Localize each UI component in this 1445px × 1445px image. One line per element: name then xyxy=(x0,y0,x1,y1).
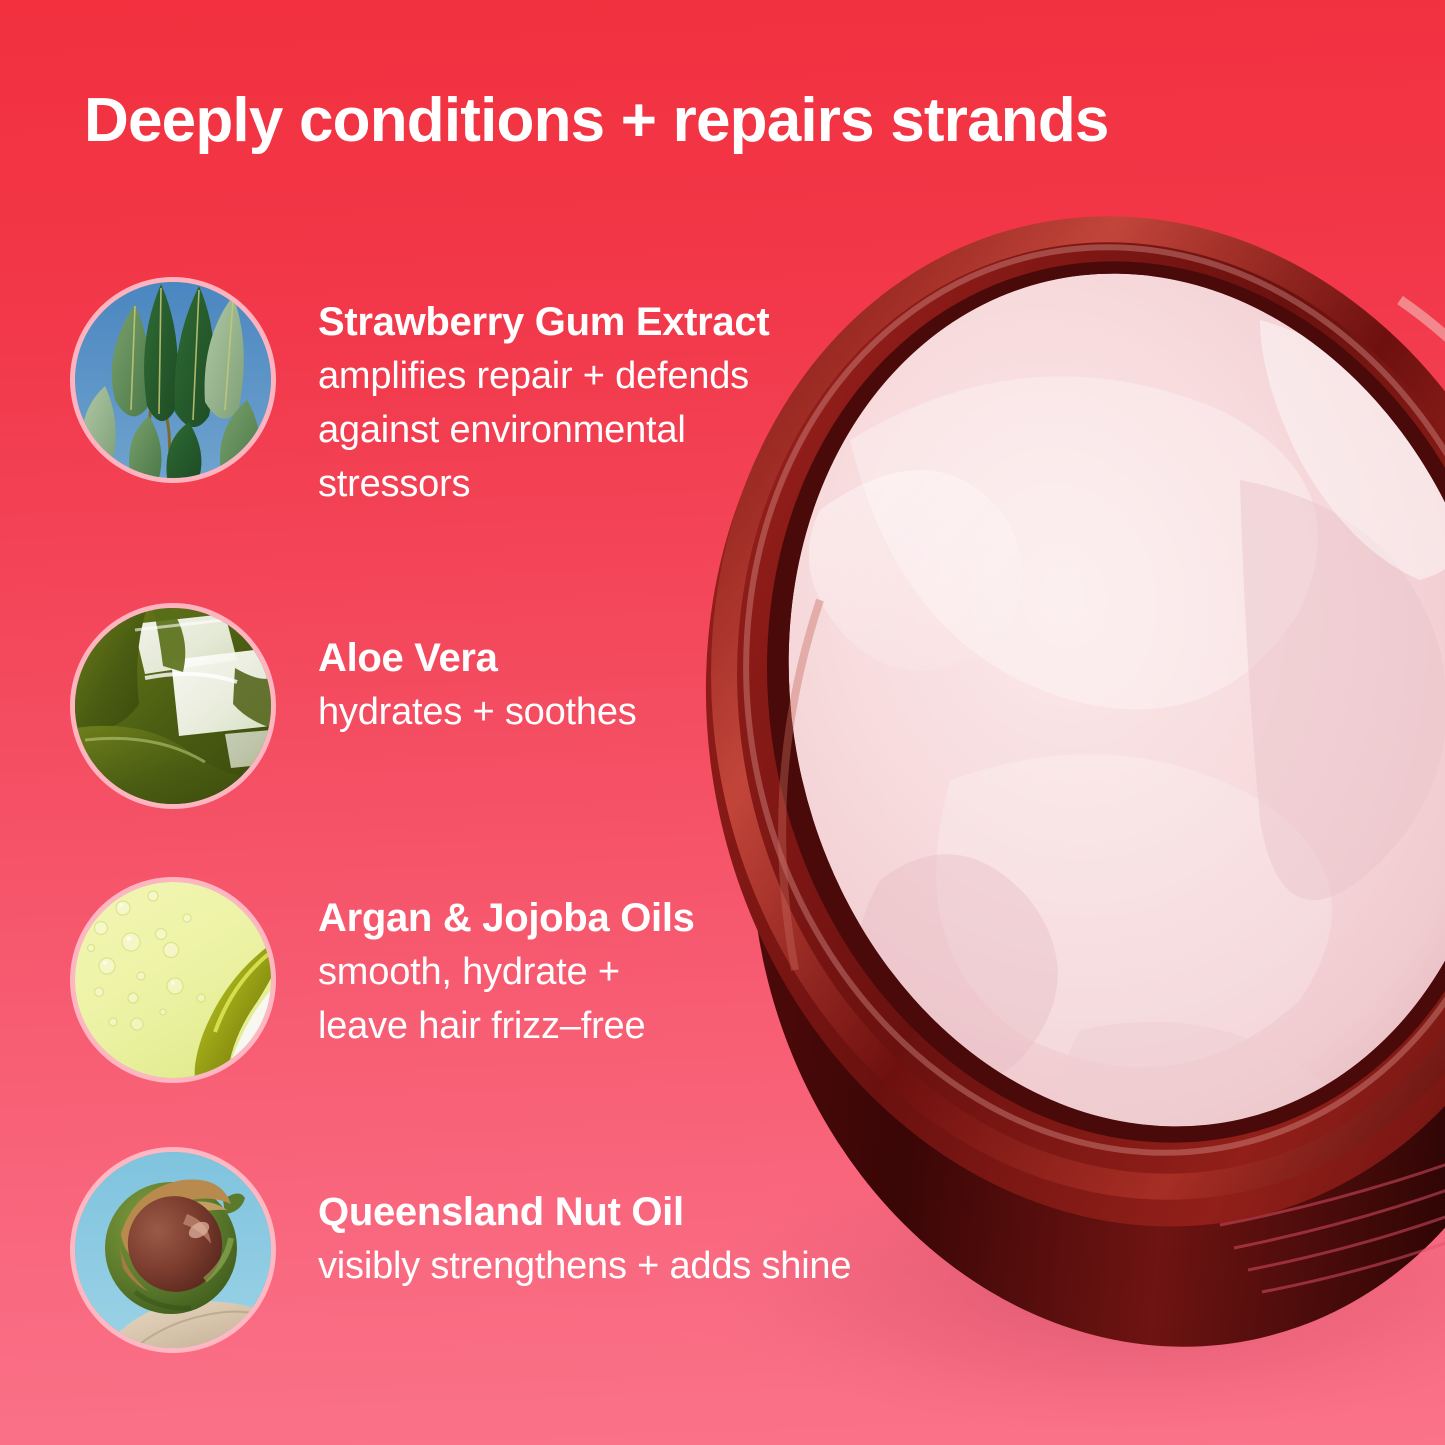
queensland-macadamia-nut-photo xyxy=(75,1152,271,1348)
ingredient-description: hydrates + soothes xyxy=(318,686,637,740)
ingredient-description: visibly strengthens + adds shine xyxy=(318,1240,851,1294)
ingredient-text-block: Argan & Jojoba Oils smooth, hydrate + le… xyxy=(318,896,695,1054)
ingredient-item-aloe-vera: Aloe Vera hydrates + soothes xyxy=(75,608,895,804)
ingredient-name: Queensland Nut Oil xyxy=(318,1190,851,1234)
aloe-vera-gel-photo xyxy=(75,608,271,804)
ingredient-item-strawberry-gum-extract: Strawberry Gum Extract amplifies repair … xyxy=(75,282,895,512)
ingredient-list: Strawberry Gum Extract amplifies repair … xyxy=(0,0,900,1445)
ingredient-text-block: Strawberry Gum Extract amplifies repair … xyxy=(318,300,769,512)
ingredient-item-argan-jojoba-oils: Argan & Jojoba Oils smooth, hydrate + le… xyxy=(75,882,895,1078)
ingredient-name: Argan & Jojoba Oils xyxy=(318,896,695,940)
strawberry-gum-leaves-photo xyxy=(75,282,271,478)
ingredient-name: Aloe Vera xyxy=(318,636,637,680)
ingredient-description: smooth, hydrate + leave hair frizz–free xyxy=(318,946,695,1054)
ingredient-text-block: Queensland Nut Oil visibly strengthens +… xyxy=(318,1190,851,1294)
product-ingredient-infographic: Deeply conditions + repairs strands xyxy=(0,0,1445,1445)
argan-jojoba-oil-photo xyxy=(75,882,271,1078)
ingredient-text-block: Aloe Vera hydrates + soothes xyxy=(318,636,637,740)
ingredient-item-queensland-nut-oil: Queensland Nut Oil visibly strengthens +… xyxy=(75,1152,895,1348)
ingredient-description: amplifies repair + defends against envir… xyxy=(318,350,769,512)
ingredient-name: Strawberry Gum Extract xyxy=(318,300,769,344)
